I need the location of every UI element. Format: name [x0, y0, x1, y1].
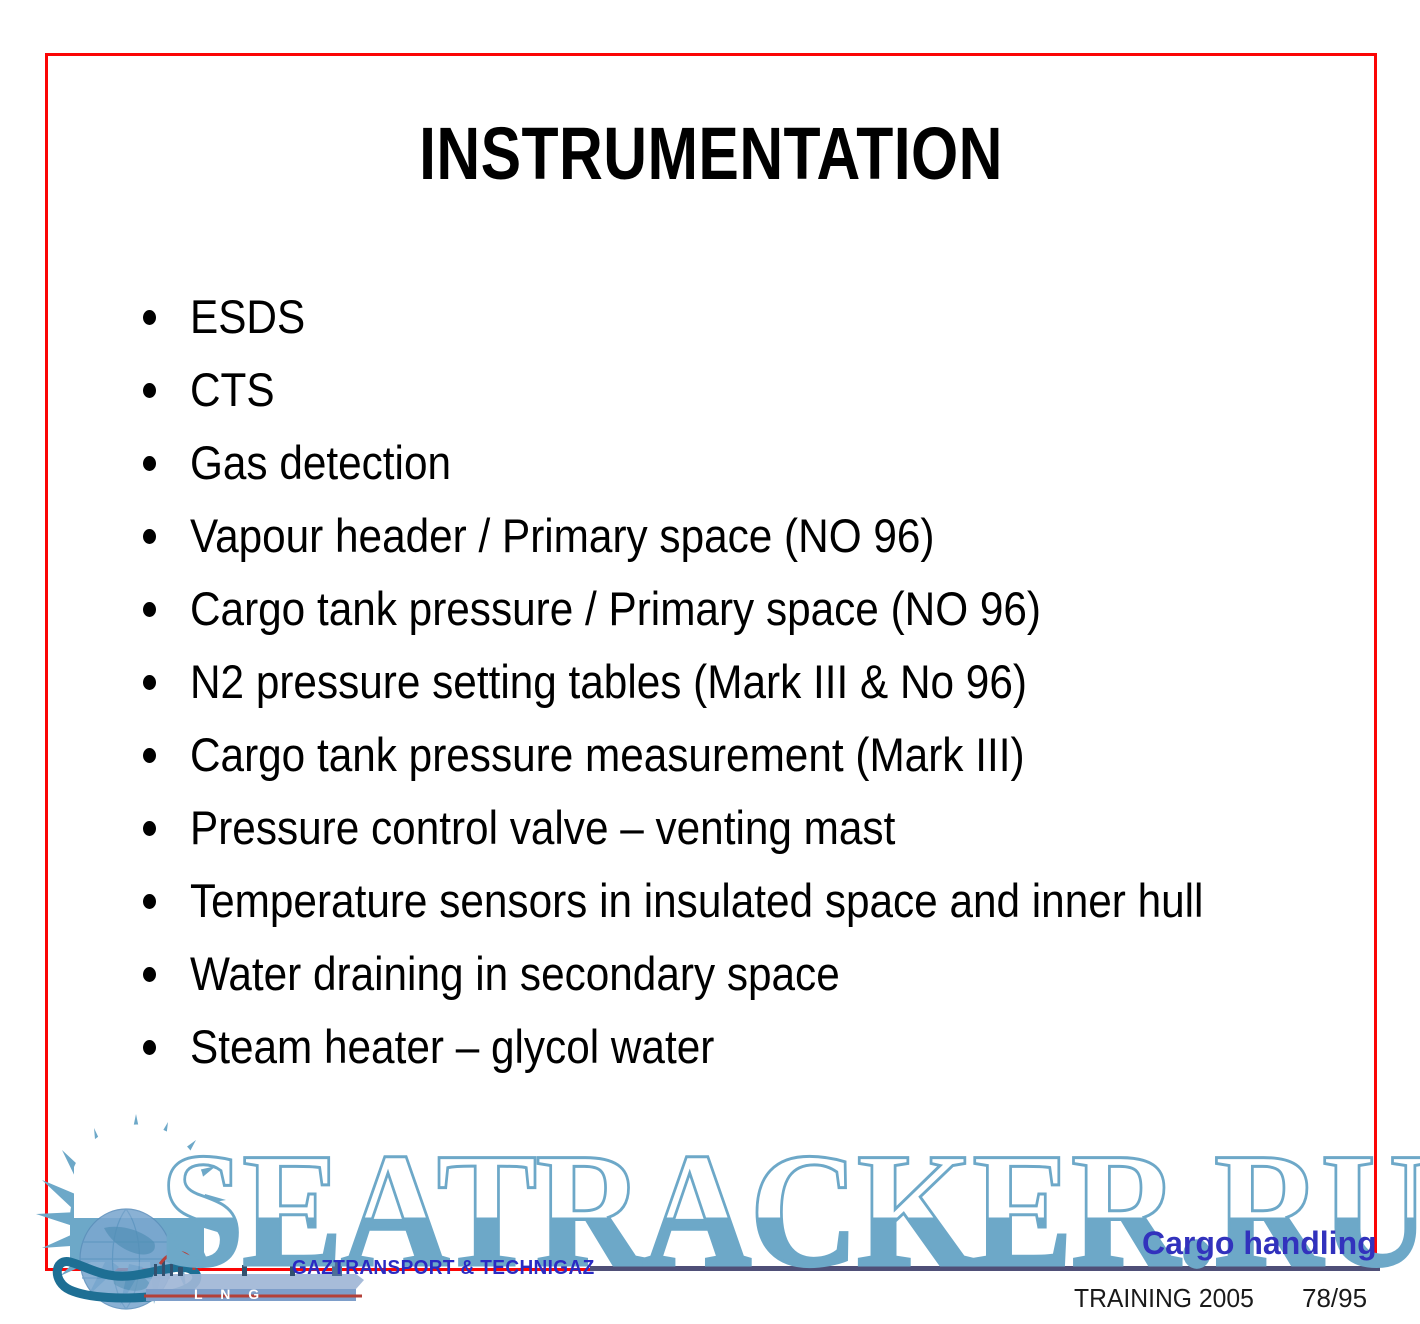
list-item-label: Steam heater – glycol water — [190, 1022, 714, 1072]
list-item-label: Vapour header / Primary space (NO 96) — [190, 511, 934, 561]
list-item-label: ESDS — [190, 292, 305, 342]
list-item-label: Water draining in secondary space — [190, 949, 840, 999]
bullet-icon — [143, 383, 156, 398]
list-item: Water draining in secondary space — [140, 937, 1370, 1010]
bullet-icon — [143, 894, 156, 909]
bullet-icon — [143, 602, 156, 617]
list-item: N2 pressure setting tables (Mark III & N… — [140, 645, 1370, 718]
list-item: Steam heater – glycol water — [140, 1010, 1370, 1083]
list-item: Gas detection — [140, 426, 1370, 499]
list-item-label: Gas detection — [190, 438, 451, 488]
list-item-label: CTS — [190, 365, 275, 415]
list-item: Cargo tank pressure / Primary space (NO … — [140, 572, 1370, 645]
slide-canvas: INSTRUMENTATION ESDS CTS Gas detection V… — [0, 0, 1420, 1324]
bullet-list: ESDS CTS Gas detection Vapour header / P… — [140, 280, 1370, 1083]
list-item: Temperature sensors in insulated space a… — [140, 864, 1370, 937]
page-number-label: 78/95 — [1302, 1283, 1367, 1314]
bullet-icon — [143, 310, 156, 325]
bullet-icon — [143, 967, 156, 982]
bullet-icon — [143, 675, 156, 690]
page-title: INSTRUMENTATION — [165, 112, 1257, 196]
bullet-icon — [143, 821, 156, 836]
gtt-wordmark: GAZTRANSPORT & TECHNIGAZ — [292, 1257, 595, 1280]
gaztransport-technigaz-logo: L N G — [8, 1112, 568, 1312]
training-year-label: TRAINING 2005 — [1074, 1283, 1254, 1314]
list-item: CTS — [140, 353, 1370, 426]
section-label: Cargo handling — [1142, 1225, 1377, 1262]
list-item: Cargo tank pressure measurement (Mark II… — [140, 718, 1370, 791]
list-item-label: Temperature sensors in insulated space a… — [190, 876, 1203, 926]
bullet-icon — [143, 1040, 156, 1055]
list-item-label: N2 pressure setting tables (Mark III & N… — [190, 657, 1027, 707]
list-item: ESDS — [140, 280, 1370, 353]
list-item: Vapour header / Primary space (NO 96) — [140, 499, 1370, 572]
bullet-icon — [143, 456, 156, 471]
lng-ship-label: L N G — [194, 1286, 266, 1302]
bullet-icon — [143, 748, 156, 763]
bullet-icon — [143, 529, 156, 544]
list-item: Pressure control valve – venting mast — [140, 791, 1370, 864]
footer-rule — [590, 1266, 1380, 1271]
list-item-label: Cargo tank pressure / Primary space (NO … — [190, 584, 1041, 634]
list-item-label: Cargo tank pressure measurement (Mark II… — [190, 730, 1025, 780]
list-item-label: Pressure control valve – venting mast — [190, 803, 895, 853]
